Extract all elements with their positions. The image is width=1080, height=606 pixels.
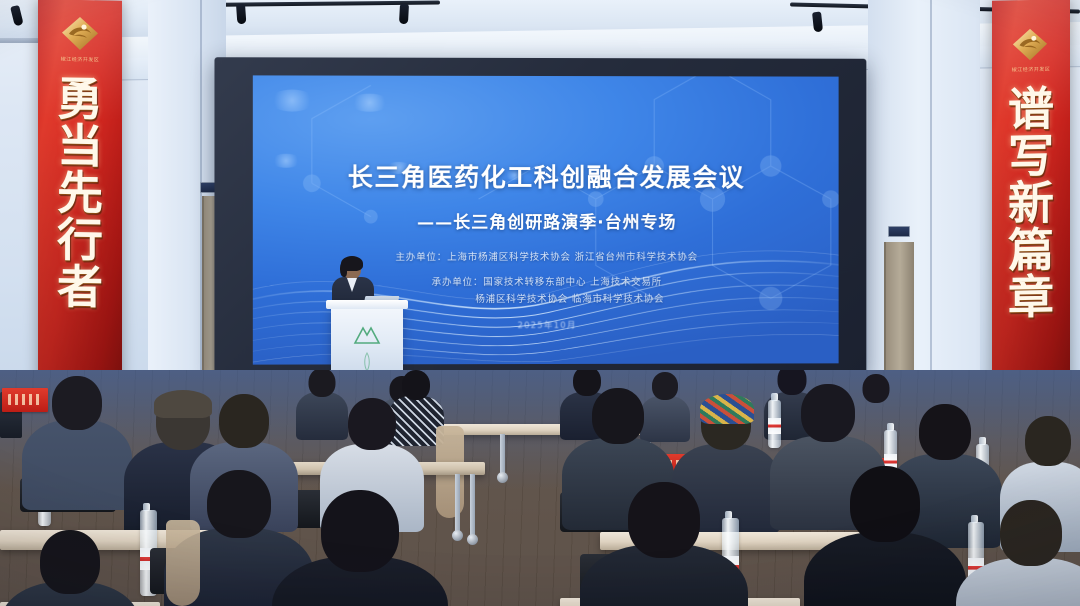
attendee xyxy=(580,482,748,606)
conference-photo-scene: 椒江经济开发区 勇 当 先 行 者 椒江经济开发区 xyxy=(0,0,1080,606)
banner-left: 椒江经济开发区 勇 当 先 行 者 xyxy=(38,0,122,401)
table-caster xyxy=(452,530,463,541)
attendee-head xyxy=(850,466,920,542)
podium-top xyxy=(326,300,408,309)
organization-logo-icon xyxy=(1008,26,1054,67)
speaker-hair-side xyxy=(340,262,347,277)
banner-right: 椒江经济开发区 谱 写 新 篇 章 xyxy=(992,0,1070,401)
banner-char: 新 xyxy=(1008,179,1054,227)
organization-logo-icon xyxy=(57,14,103,55)
table-caster xyxy=(467,534,478,545)
attendee-torso xyxy=(804,532,966,606)
draped-coat xyxy=(166,520,200,606)
slide-host-line-2: 杨浦区科学技术协会 临海市科学技术协会 xyxy=(429,293,664,308)
attendee-head xyxy=(1000,500,1062,566)
table-leg xyxy=(470,474,475,536)
banner-char: 勇 xyxy=(57,76,103,124)
slide-subtitle: ——长三角创研路演季·台州专场 xyxy=(417,208,676,233)
attendee xyxy=(272,490,448,606)
slide-host-line-1: 承办单位：国家技术转移东部中心 上海技术交易所 xyxy=(432,276,662,291)
banner-logo-caption: 椒江经济开发区 xyxy=(1012,66,1051,74)
attendee-torso xyxy=(956,558,1080,606)
banner-char: 行 xyxy=(57,216,103,264)
attendee xyxy=(956,500,1080,606)
attendee-head xyxy=(219,394,269,448)
attendee-bandana xyxy=(700,394,754,424)
podium-logo-icon xyxy=(352,324,382,346)
attendee-head xyxy=(628,482,700,558)
attendee-head xyxy=(801,384,855,442)
table-leg xyxy=(500,434,505,474)
banner-char: 当 xyxy=(57,123,103,171)
attendee xyxy=(22,376,132,506)
attendee-head xyxy=(309,370,336,397)
attendee-head xyxy=(1025,416,1071,466)
attendee-head xyxy=(402,370,430,400)
table-leg xyxy=(455,474,460,532)
banner-char: 谱 xyxy=(1008,86,1054,134)
attendee xyxy=(804,466,966,606)
podium-logo-secondary-icon xyxy=(362,352,372,372)
led-screen-bezel: 长三角医药化工科创融合发展会议 ——长三角创研路演季·台州专场 主办单位：上海市… xyxy=(214,57,866,377)
attendee-head xyxy=(919,404,971,460)
attendee-head xyxy=(592,388,644,444)
attendee-head xyxy=(40,530,100,594)
slide-date: 2025年10月 xyxy=(517,319,576,331)
attendee-head xyxy=(321,490,399,572)
slide-organizer-line: 主办单位：上海市杨浦区科学技术协会 浙江省台州市科学技术协会 xyxy=(395,249,697,263)
spotlight-icon xyxy=(812,12,823,33)
banner-right-text: 谱 写 新 篇 章 xyxy=(992,85,1070,321)
spotlight-icon xyxy=(399,4,409,24)
audience-area xyxy=(0,370,1080,606)
banner-logo-caption: 椒江经济开发区 xyxy=(61,56,100,64)
attendee-head xyxy=(52,376,102,430)
attendee-head xyxy=(348,398,396,450)
banner-left-text: 勇 当 先 行 者 xyxy=(38,75,122,311)
banner-char: 写 xyxy=(1008,132,1054,180)
banner-char: 者 xyxy=(57,263,103,311)
table-caster xyxy=(497,472,508,483)
attendee-torso xyxy=(22,420,132,510)
banner-char: 篇 xyxy=(1008,226,1054,274)
attendee xyxy=(0,530,140,606)
banner-char: 先 xyxy=(57,169,103,217)
banner-char: 章 xyxy=(1008,273,1054,321)
attendee-head xyxy=(207,470,271,538)
door-sign-icon xyxy=(888,226,910,237)
spotlight-icon xyxy=(236,4,246,25)
slide-title: 长三角医药化工科创融合发展会议 xyxy=(348,158,745,194)
podium xyxy=(331,306,403,378)
